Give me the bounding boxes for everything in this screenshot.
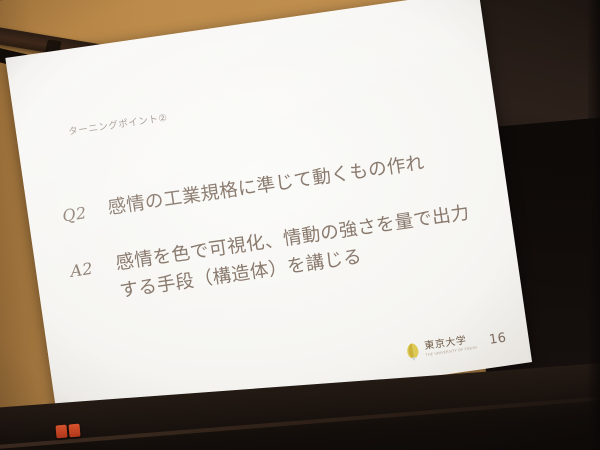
answer-label: A2 bbox=[68, 251, 117, 284]
red-marker-1 bbox=[55, 425, 67, 439]
slide-surface: ターニングポイント② Q2 感情の工業規格に準じて動くもの作れ A2 感情を色で… bbox=[5, 0, 532, 430]
red-marker-2 bbox=[68, 424, 80, 438]
question-label: Q2 bbox=[60, 195, 109, 228]
slide-header-label: ターニングポイント② bbox=[67, 110, 168, 138]
right-edge-shadow bbox=[588, 0, 600, 450]
university-logo-text: 東京大学 THE UNIVERSITY OF TOKYO bbox=[424, 335, 478, 357]
university-logo: 東京大学 THE UNIVERSITY OF TOKYO bbox=[403, 333, 478, 362]
lecture-hall-photo: ターニングポイント② Q2 感情の工業規格に準じて動くもの作れ A2 感情を色で… bbox=[0, 0, 600, 450]
slide-footer: 東京大学 THE UNIVERSITY OF TOKYO 16 bbox=[403, 329, 508, 363]
page-number: 16 bbox=[488, 331, 507, 348]
projection-screen: ターニングポイント② Q2 感情の工業規格に準じて動くもの作れ A2 感情を色で… bbox=[5, 0, 532, 434]
ginkgo-leaf-icon bbox=[403, 341, 423, 362]
